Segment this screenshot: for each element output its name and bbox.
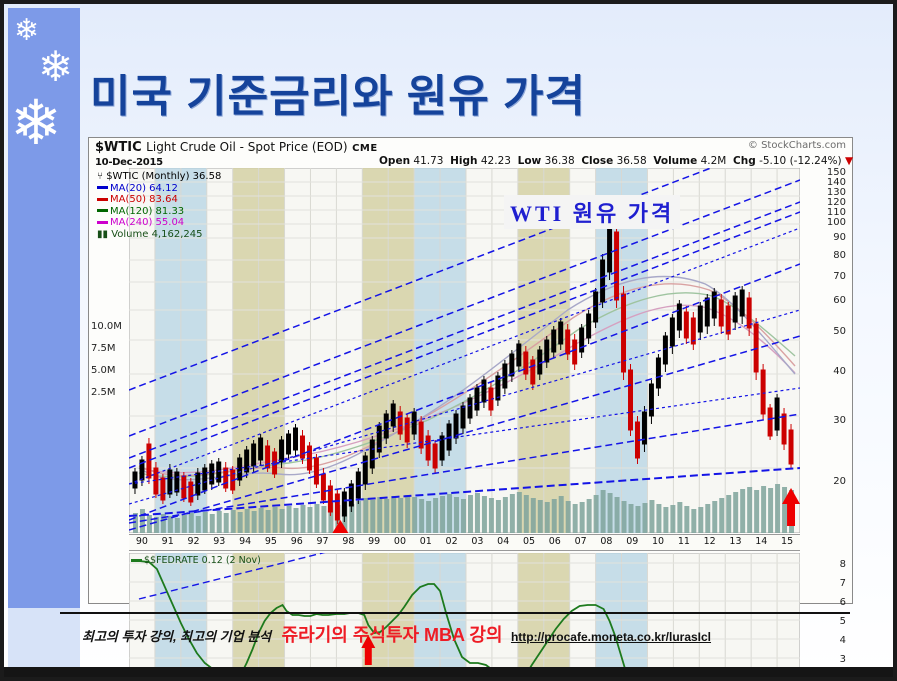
rate-axis-tick: 6 xyxy=(840,597,846,608)
low-label: Low xyxy=(518,155,542,167)
x-axis-tick: 97 xyxy=(317,536,329,547)
legend-label: MA(240) 55.04 xyxy=(110,217,184,228)
x-axis-tick: 11 xyxy=(678,536,690,547)
stockcharts-chart: $WTIC Light Crude Oil - Spot Price (EOD)… xyxy=(88,137,853,604)
x-axis-tick: 12 xyxy=(704,536,716,547)
x-axis-tick: 06 xyxy=(549,536,561,547)
chg-label: Chg xyxy=(733,155,756,167)
rate-axis-tick: 7 xyxy=(840,578,846,589)
candle-icon: ⑂ xyxy=(97,171,103,182)
legend-label: MA(20) 64.12 xyxy=(110,183,178,194)
chart-symbol: $WTIC xyxy=(95,140,142,155)
volume-axis-label: 10.0M xyxy=(91,321,122,332)
price-plot-svg xyxy=(129,168,800,533)
fedrate-legend: $$FEDRATE 0.12 (2 Nov) xyxy=(131,555,261,566)
high-label: High xyxy=(450,155,477,167)
page-title: 미국 기준금리와 원유 가격 xyxy=(90,60,790,124)
volume-value: 4.2M xyxy=(701,155,727,167)
price-legend: ⑂ $WTIC (Monthly) 36.58 MA(20) 64.12 MA(… xyxy=(97,171,221,240)
price-axis-tick: 20 xyxy=(833,476,846,487)
x-axis-tick: 03 xyxy=(471,536,483,547)
legend-label: Volume 4,162,245 xyxy=(111,229,202,240)
x-axis-tick: 98 xyxy=(342,536,354,547)
legend-item: MA(20) 64.12 xyxy=(97,183,221,195)
x-axis-tick: 92 xyxy=(187,536,199,547)
fedrate-panel: 미국 기준금리 xyxy=(129,553,800,681)
x-axis-tick: 96 xyxy=(291,536,303,547)
chart-exchange: CME xyxy=(352,143,378,154)
x-axis-tick: 07 xyxy=(575,536,587,547)
open-value: 41.73 xyxy=(413,155,443,167)
volume-label: Volume xyxy=(653,155,697,167)
legend-label: $WTIC (Monthly) 36.58 xyxy=(106,171,221,182)
price-axis-tick: 100 xyxy=(827,217,846,228)
price-panel: WTI 원유 가격 xyxy=(129,168,800,533)
snowflake-icon: ❄ xyxy=(38,46,73,88)
line-swatch-icon xyxy=(131,559,142,562)
close-value: 36.58 xyxy=(617,155,647,167)
x-axis-tick: 10 xyxy=(652,536,664,547)
price-axis-tick: 40 xyxy=(833,366,846,377)
line-swatch-icon xyxy=(97,186,108,189)
legend-item: ⑂ $WTIC (Monthly) 36.58 xyxy=(97,171,221,183)
footer-brand: 쥬라기의 주식투자 MBA 강의 xyxy=(282,625,503,645)
price-axis-tick: 90 xyxy=(833,232,846,243)
volume-axis-label: 2.5M xyxy=(91,387,116,398)
price-axis-tick: 70 xyxy=(833,271,846,282)
annotation-wti-price: WTI 원유 가격 xyxy=(504,195,680,229)
bars-icon: ▮▮ xyxy=(97,229,108,240)
x-axis-tick: 14 xyxy=(755,536,767,547)
x-axis-tick: 02 xyxy=(446,536,458,547)
x-axis-tick: 09 xyxy=(626,536,638,547)
legend-item: MA(50) 83.64 xyxy=(97,194,221,206)
volume-axis-label: 5.0M xyxy=(91,365,116,376)
slide: ❄ ❄ ❄ 미국 기준금리와 원유 가격 $WTIC Light Crude O… xyxy=(0,0,897,681)
snowflake-icon: ❄ xyxy=(14,16,39,46)
low-value: 36.38 xyxy=(545,155,575,167)
x-axis-tick: 04 xyxy=(497,536,509,547)
bottom-bar xyxy=(4,667,897,677)
fedrate-plot-svg xyxy=(129,553,800,681)
x-axis-tick: 00 xyxy=(394,536,406,547)
price-axis-tick: 50 xyxy=(833,326,846,337)
stockcharts-credit: © StockCharts.com xyxy=(748,140,846,151)
line-swatch-icon xyxy=(97,221,108,224)
line-swatch-icon xyxy=(97,209,108,212)
chg-value: -5.10 (-12.24%) xyxy=(759,155,842,167)
x-axis-tick: 90 xyxy=(136,536,148,547)
x-axis-tick: 13 xyxy=(729,536,741,547)
footer-divider xyxy=(60,612,850,614)
x-axis-tick: 94 xyxy=(239,536,251,547)
legend-item: MA(240) 55.04 xyxy=(97,217,221,229)
down-triangle-icon: ▼ xyxy=(845,155,853,167)
x-axis-tick: 08 xyxy=(600,536,612,547)
price-axis-tick: 60 xyxy=(833,295,846,306)
rate-axis-tick: 8 xyxy=(840,559,846,570)
x-axis-tick: 93 xyxy=(213,536,225,547)
open-label: Open xyxy=(379,155,410,167)
x-axis-tick: 99 xyxy=(368,536,380,547)
legend-label: MA(120) 81.33 xyxy=(110,206,184,217)
legend-item: ▮▮ Volume 4,162,245 xyxy=(97,229,221,241)
legend-label: MA(50) 83.64 xyxy=(110,194,178,205)
line-swatch-icon xyxy=(97,198,108,201)
footer-tagline: 최고의 투자 강의, 최고의 기업 분석 xyxy=(82,629,271,644)
chart-description: Light Crude Oil - Spot Price (EOD) xyxy=(146,140,347,154)
footer-url[interactable]: http://procafe.moneta.co.kr/lurasIcl xyxy=(511,630,711,644)
legend-label: $$FEDRATE 0.12 (2 Nov) xyxy=(144,555,261,566)
x-axis-tick: 91 xyxy=(162,536,174,547)
x-axis-tick: 01 xyxy=(420,536,432,547)
decorative-left-band: ❄ ❄ ❄ xyxy=(8,8,80,608)
x-axis-tick: 15 xyxy=(781,536,793,547)
chart-symbol-header: $WTIC Light Crude Oil - Spot Price (EOD)… xyxy=(95,140,378,155)
chart-date: 10-Dec-2015 xyxy=(95,157,163,168)
footer: 최고의 투자 강의, 최고의 기업 분석 쥬라기의 주식투자 MBA 강의 ht… xyxy=(82,621,882,647)
legend-item: MA(120) 81.33 xyxy=(97,206,221,218)
x-axis-tick: 95 xyxy=(265,536,277,547)
high-value: 42.23 xyxy=(481,155,511,167)
quote-bar: Open 41.73 High 42.23 Low 36.38 Close 36… xyxy=(379,155,853,167)
snowflake-icon: ❄ xyxy=(10,93,62,155)
close-label: Close xyxy=(581,155,613,167)
price-axis-tick: 80 xyxy=(833,250,846,261)
volume-axis-label: 7.5M xyxy=(91,343,116,354)
x-axis-top: 9091929394959697989900010203040506070809… xyxy=(129,534,800,551)
price-axis-tick: 30 xyxy=(833,415,846,426)
rate-axis-tick: 3 xyxy=(840,654,846,665)
x-axis-tick: 05 xyxy=(523,536,535,547)
